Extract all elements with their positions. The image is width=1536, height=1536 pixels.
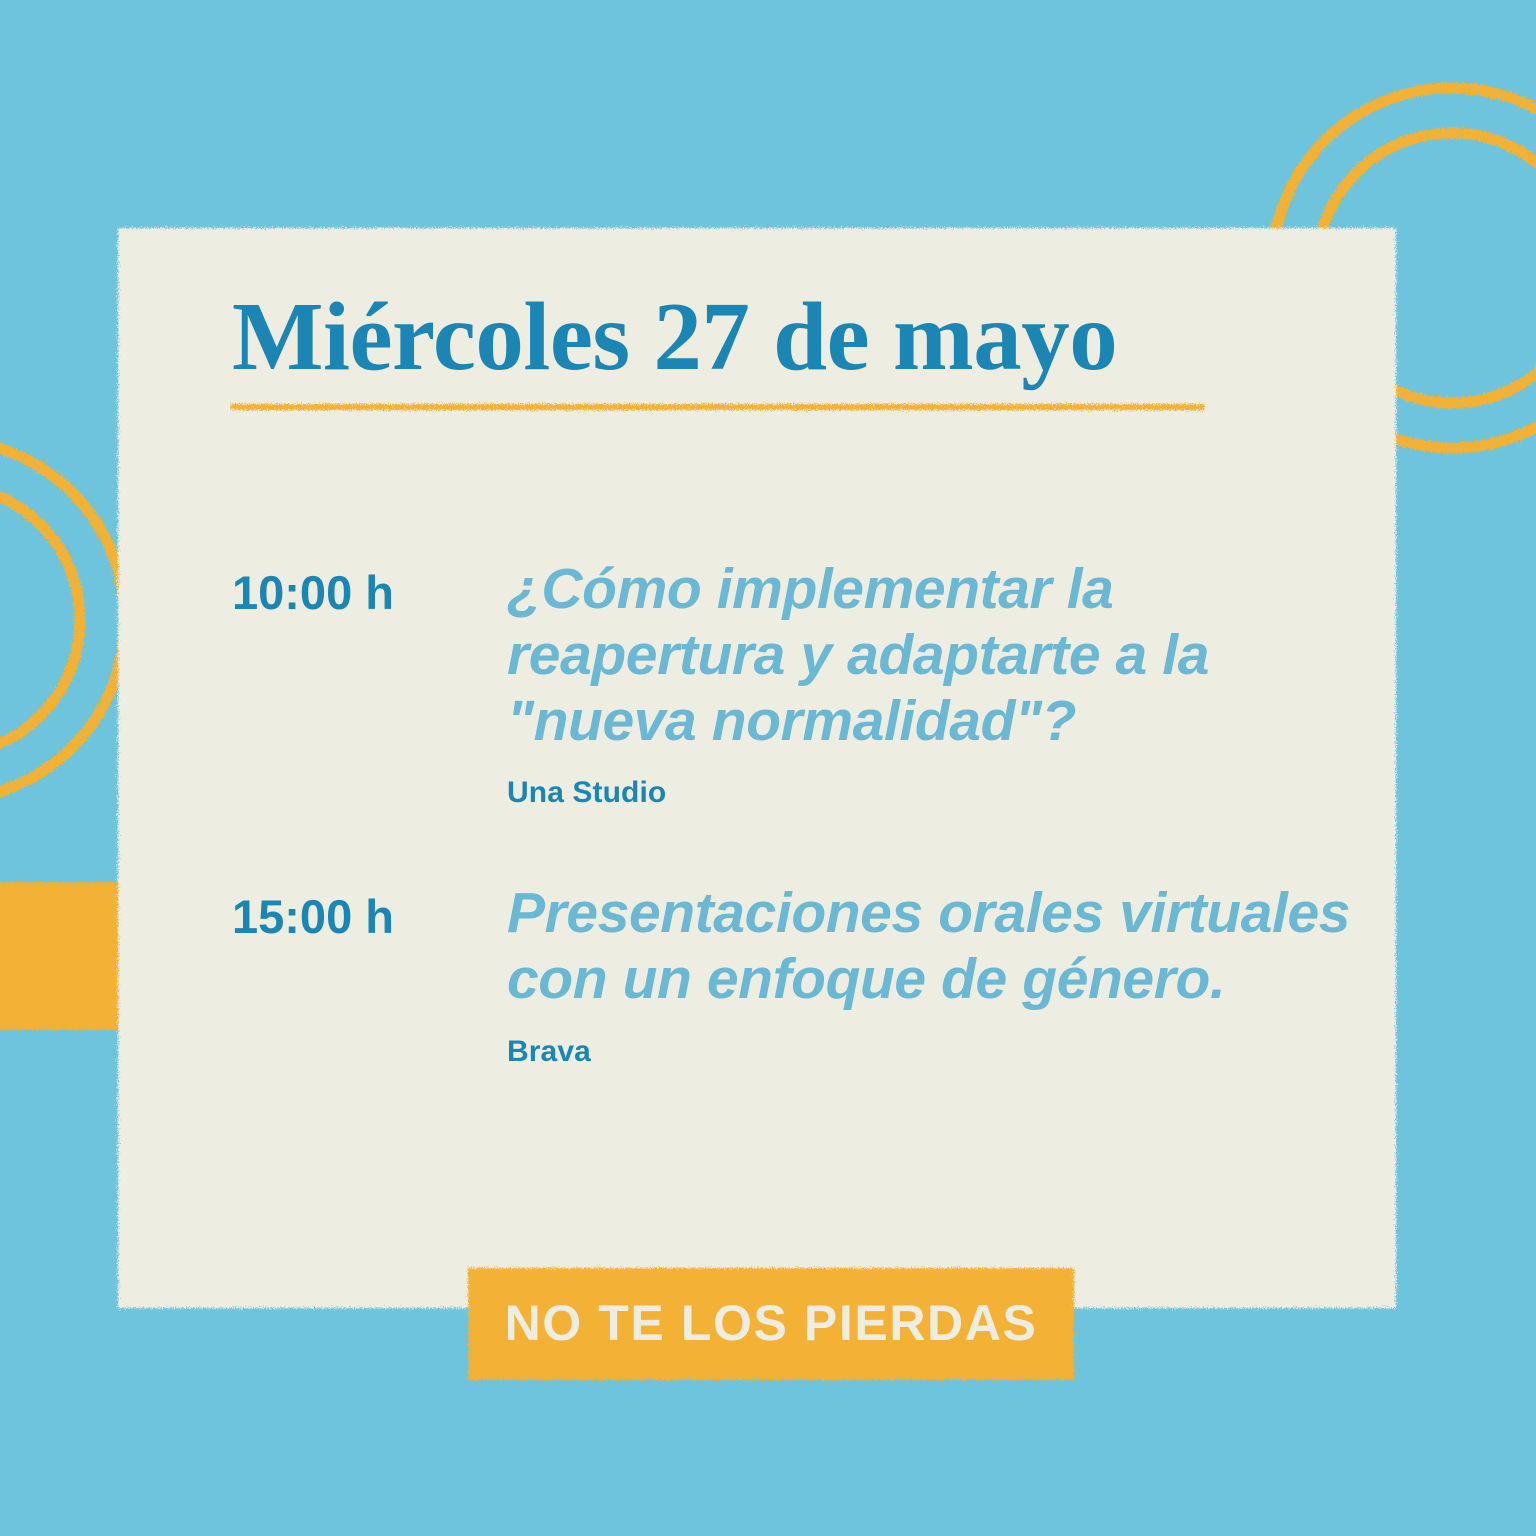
session-item: 10:00 h ¿Cómo implementar la reapertura …	[232, 556, 1352, 810]
session-title: Presentaciones orales virtuales con un e…	[507, 880, 1352, 1012]
session-title: ¿Cómo implementar la reapertura y adapta…	[507, 556, 1352, 754]
cta-label: NO TE LOS PIERDAS	[462, 1262, 1080, 1386]
event-poster: Miércoles 27 de mayo 10:00 h ¿Cómo imple…	[0, 0, 1536, 1536]
session-time: 10:00 h	[232, 556, 507, 617]
session-time: 15:00 h	[232, 880, 507, 941]
session-speaker: Una Studio	[507, 776, 1352, 810]
title-underline-icon	[230, 396, 1205, 418]
session-body: ¿Cómo implementar la reapertura y adapta…	[507, 556, 1352, 810]
session-body: Presentaciones orales virtuales con un e…	[507, 880, 1352, 1068]
session-item: 15:00 h Presentaciones orales virtuales …	[232, 880, 1352, 1068]
session-list: 10:00 h ¿Cómo implementar la reapertura …	[232, 556, 1352, 1069]
session-speaker: Brava	[507, 1035, 1352, 1069]
cta-banner[interactable]: NO TE LOS PIERDAS	[462, 1262, 1080, 1386]
page-title: Miércoles 27 de mayo	[232, 288, 1262, 387]
